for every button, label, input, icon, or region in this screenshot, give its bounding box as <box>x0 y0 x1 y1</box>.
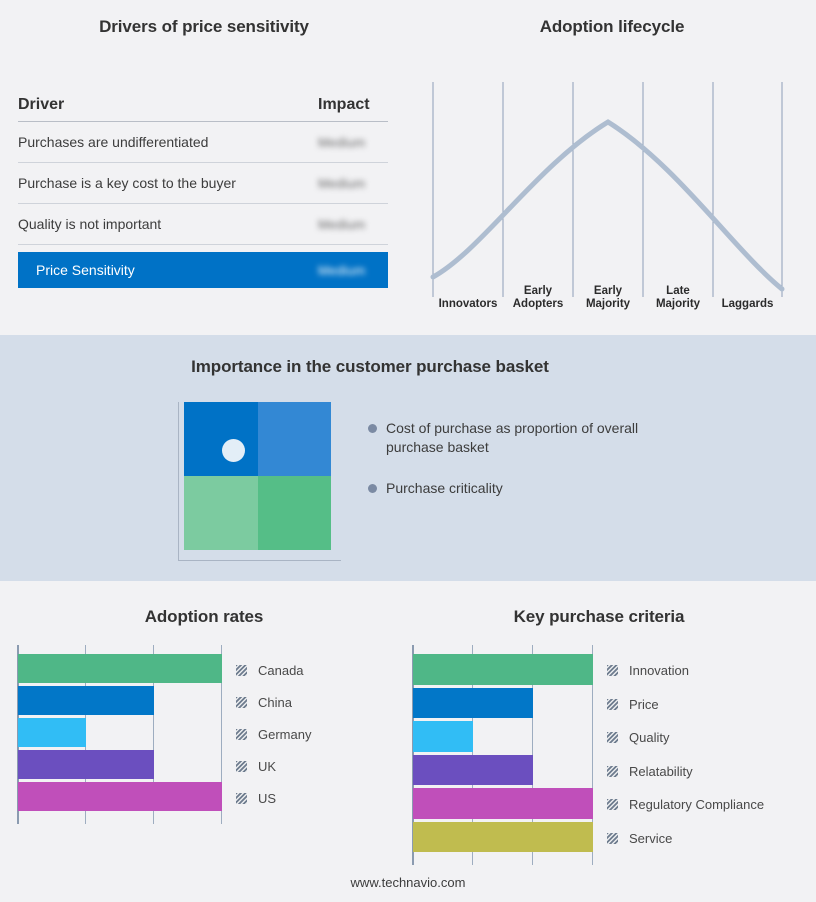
adoption-rates-chart: CanadaChinaGermanyUKUS <box>17 645 222 824</box>
price-sensitivity-label: Price Sensitivity <box>36 262 135 278</box>
footer-url: www.technavio.com <box>0 875 816 890</box>
hatch-swatch-icon <box>607 665 618 676</box>
table-header-row: Driver Impact <box>18 88 388 122</box>
hatch-swatch-icon <box>236 697 247 708</box>
hatch-swatch-icon <box>607 699 618 710</box>
lifecycle-bell-curve-chart: Innovators Early Adopters Early Majority… <box>422 70 802 315</box>
bar <box>18 654 222 683</box>
impact-value: Medium <box>318 135 388 150</box>
bar <box>18 782 222 811</box>
lifecycle-stage-late-majority: Late Majority <box>643 285 713 311</box>
lifecycle-stage-laggards: Laggards <box>713 298 782 311</box>
quadrant-bottom-right <box>258 476 332 550</box>
legend-item: UK <box>236 750 311 782</box>
table-row: Purchase is a key cost to the buyer Medi… <box>18 163 388 204</box>
matrix-position-marker <box>222 439 245 462</box>
driver-label: Purchase is a key cost to the buyer <box>18 175 236 191</box>
bar <box>413 688 533 719</box>
legend-label: Quality <box>629 730 669 745</box>
hatch-swatch-icon <box>236 761 247 772</box>
bar <box>413 822 593 853</box>
driver-label: Purchases are undifferentiated <box>18 134 208 150</box>
importance-panel: Importance in the customer purchase bask… <box>0 335 816 581</box>
legend-item: Cost of purchase as proportion of overal… <box>368 419 658 457</box>
bell-curve-svg <box>422 70 802 315</box>
legend-item: Regulatory Compliance <box>607 788 764 822</box>
legend-label: Relatability <box>629 764 693 779</box>
column-header-driver: Driver <box>18 96 64 114</box>
legend-item: US <box>236 782 311 814</box>
table-row: Quality is not important Medium <box>18 204 388 245</box>
lifecycle-panel-title: Adoption lifecycle <box>408 17 816 37</box>
criteria-legend: InnovationPriceQualityRelatabilityRegula… <box>607 654 764 855</box>
legend-label: Regulatory Compliance <box>629 797 764 812</box>
bar <box>413 788 593 819</box>
table-row: Purchases are undifferentiated Medium <box>18 122 388 163</box>
quadrant-top-left <box>184 402 258 476</box>
legend-label: Price <box>629 697 659 712</box>
bar <box>413 755 533 786</box>
hatch-swatch-icon <box>607 799 618 810</box>
adoption-plot-area <box>17 645 222 824</box>
hatch-swatch-icon <box>607 833 618 844</box>
hatch-swatch-icon <box>236 665 247 676</box>
key-purchase-criteria-panel: Key purchase criteria InnovationPriceQua… <box>395 581 816 881</box>
hatch-swatch-icon <box>236 793 247 804</box>
bar <box>18 686 154 715</box>
matrix-x-axis <box>178 560 341 561</box>
legend-item: Germany <box>236 718 311 750</box>
price-sensitivity-summary-row: Price Sensitivity Medium <box>18 252 388 288</box>
quadrant-bottom-left <box>184 476 258 550</box>
key-purchase-criteria-title: Key purchase criteria <box>395 607 803 627</box>
criteria-plot-area <box>412 645 593 865</box>
bar <box>18 750 154 779</box>
legend-label: Germany <box>258 727 311 742</box>
legend-item: Innovation <box>607 654 764 688</box>
purchase-basket-matrix <box>178 402 346 564</box>
key-purchase-criteria-chart: InnovationPriceQualityRelatabilityRegula… <box>412 645 593 865</box>
bar <box>18 718 86 747</box>
drivers-table: Driver Impact Purchases are undifferenti… <box>18 88 388 288</box>
legend-item: China <box>236 686 311 718</box>
legend-label: Cost of purchase as proportion of overal… <box>386 419 658 457</box>
matrix-y-axis <box>178 402 179 560</box>
importance-legend: Cost of purchase as proportion of overal… <box>368 419 658 520</box>
legend-item: Quality <box>607 721 764 755</box>
driver-label: Quality is not important <box>18 216 161 232</box>
matrix-quadrant-grid <box>184 402 331 550</box>
column-header-impact: Impact <box>318 96 388 114</box>
importance-panel-title: Importance in the customer purchase bask… <box>0 357 740 377</box>
bar <box>413 721 473 752</box>
legend-label: US <box>258 791 276 806</box>
legend-item: Relatability <box>607 755 764 789</box>
lifecycle-stage-innovators: Innovators <box>433 298 503 311</box>
drivers-panel: Drivers of price sensitivity Driver Impa… <box>0 0 408 335</box>
drivers-panel-title: Drivers of price sensitivity <box>0 17 408 37</box>
adoption-legend: CanadaChinaGermanyUKUS <box>236 654 311 814</box>
legend-item: Canada <box>236 654 311 686</box>
bar <box>413 654 593 685</box>
price-sensitivity-impact: Medium <box>318 263 388 278</box>
legend-label: UK <box>258 759 276 774</box>
lifecycle-stage-early-majority: Early Majority <box>573 285 643 311</box>
impact-value: Medium <box>318 176 388 191</box>
quadrant-top-right <box>258 402 332 476</box>
impact-value: Medium <box>318 217 388 232</box>
legend-item: Price <box>607 688 764 722</box>
legend-label: Innovation <box>629 663 689 678</box>
hatch-swatch-icon <box>607 732 618 743</box>
hatch-swatch-icon <box>236 729 247 740</box>
lifecycle-stage-early-adopters: Early Adopters <box>503 285 573 311</box>
hatch-swatch-icon <box>607 766 618 777</box>
legend-label: Service <box>629 831 672 846</box>
adoption-rates-panel: Adoption rates CanadaChinaGermanyUKUS <box>0 581 408 881</box>
adoption-lifecycle-panel: Adoption lifecycle Innovators Early Adop… <box>408 0 816 335</box>
legend-label: China <box>258 695 292 710</box>
legend-item: Purchase criticality <box>368 479 658 498</box>
bullet-icon <box>368 484 377 493</box>
legend-item: Service <box>607 822 764 856</box>
bullet-icon <box>368 424 377 433</box>
legend-label: Purchase criticality <box>386 479 503 498</box>
legend-label: Canada <box>258 663 304 678</box>
adoption-rates-title: Adoption rates <box>0 607 408 627</box>
